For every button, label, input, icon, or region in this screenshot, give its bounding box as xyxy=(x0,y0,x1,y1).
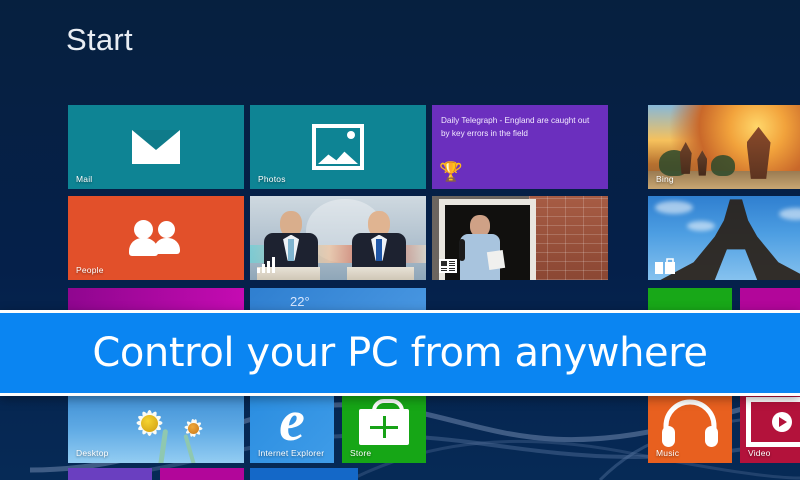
tile-travel[interactable] xyxy=(648,196,800,280)
tile-label-people: People xyxy=(76,265,104,275)
tile-sport-headline: Daily Telegraph - England are caught out… xyxy=(441,115,599,140)
ie-icon: e xyxy=(250,393,334,449)
tile-mail[interactable]: Mail xyxy=(68,105,244,189)
newspaper-icon xyxy=(439,259,457,273)
tile-row5-purple[interactable] xyxy=(68,468,152,480)
tile-row5-blue[interactable] xyxy=(250,468,358,480)
tile-label-desktop: Desktop xyxy=(76,448,109,458)
tile-sport[interactable]: Daily Telegraph - England are caught out… xyxy=(432,105,608,189)
tile-news[interactable] xyxy=(432,196,608,280)
tile-bing[interactable]: Bing xyxy=(648,105,800,189)
tile-internet-explorer[interactable]: e Internet Explorer xyxy=(250,393,334,463)
daisy-flower xyxy=(121,394,179,452)
tile-label-bing: Bing xyxy=(656,174,674,184)
chart-icon xyxy=(257,257,277,273)
headphones-icon xyxy=(648,393,732,453)
tile-label-video: Video xyxy=(748,448,771,458)
weather-temperature: 22° xyxy=(290,294,310,309)
video-play-icon xyxy=(740,393,800,451)
start-screen: Start Mail Photos Daily Telegraph - Engl… xyxy=(0,0,800,480)
tile-photos[interactable]: Photos xyxy=(250,105,426,189)
page-title: Start xyxy=(66,24,133,55)
tile-music[interactable]: Music xyxy=(648,393,732,463)
tile-row5-magenta[interactable] xyxy=(160,468,244,480)
trophy-icon: 🏆 xyxy=(439,163,463,182)
tile-label-internet-explorer: Internet Explorer xyxy=(258,448,324,458)
tile-video[interactable]: Video xyxy=(740,393,800,463)
tile-label-mail: Mail xyxy=(76,174,92,184)
tile-label-store: Store xyxy=(350,448,371,458)
tile-store[interactable]: Store xyxy=(342,393,426,463)
promo-banner: Control your PC from anywhere xyxy=(0,310,800,396)
tile-label-photos: Photos xyxy=(258,174,286,184)
tile-label-music: Music xyxy=(656,448,679,458)
suitcase-icon xyxy=(655,258,675,273)
tile-people[interactable]: People xyxy=(68,196,244,280)
envelope-icon xyxy=(68,105,244,189)
tile-desktop[interactable]: Desktop xyxy=(68,393,244,463)
tile-finance[interactable] xyxy=(250,196,426,280)
store-bag-icon xyxy=(342,393,426,451)
promo-banner-text: Control your PC from anywhere xyxy=(92,330,707,376)
daisy-flower-small xyxy=(174,408,214,448)
